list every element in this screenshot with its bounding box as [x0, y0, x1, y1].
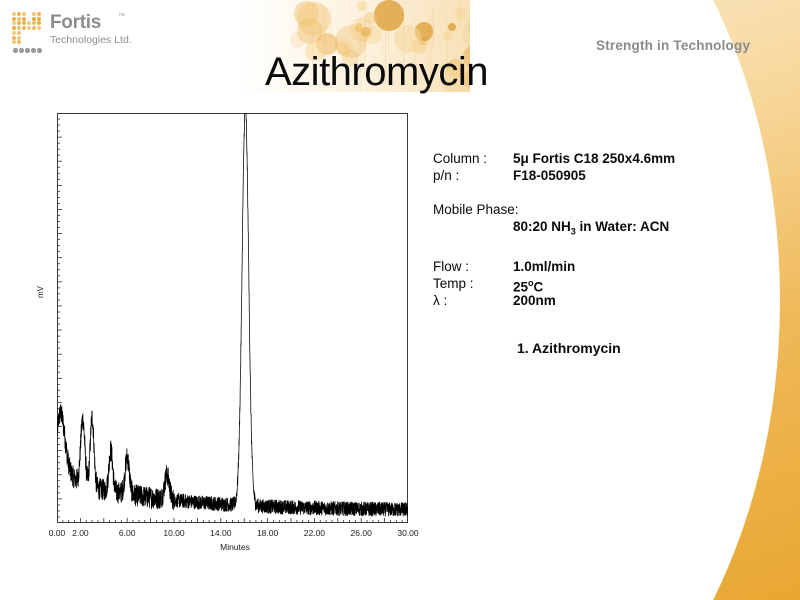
logo-dot: [22, 26, 26, 30]
banner-bubble: [355, 23, 363, 31]
logo-dot: [12, 26, 16, 30]
pn-label: p/n :: [433, 167, 459, 184]
logo-dot: [17, 40, 21, 44]
fortis-logo-dot-mark-icon: [12, 12, 46, 46]
flow-label: Flow :: [433, 258, 469, 275]
method-row-pn: p/n : F18-050905: [433, 167, 733, 184]
logo-dot: [12, 17, 16, 21]
spacer: [433, 184, 733, 201]
slide-title: Azithromycin: [265, 50, 488, 95]
x-axis-label: Minutes: [40, 542, 430, 552]
logo-dot: [22, 21, 26, 25]
temp-label: Temp :: [433, 275, 474, 292]
mobile-phase-post: in Water: ACN: [576, 219, 670, 234]
logo-dot: [37, 12, 41, 16]
mobile-phase-label: Mobile Phase:: [433, 201, 733, 218]
logo-dot: [12, 40, 16, 44]
logo-dot: [37, 21, 41, 25]
chromatogram-figure: mV 0.002.006.0010.0014.0018.0022.0026.00…: [40, 108, 430, 558]
mobile-phase-pre: 80:20 NH: [513, 219, 571, 234]
method-parameters-block: Column : 5μ Fortis C18 250x4.6mm p/n : F…: [433, 150, 733, 309]
lambda-label: λ :: [433, 292, 447, 309]
logo-dot: [17, 31, 21, 35]
logo-dot: [17, 36, 21, 40]
company-tagline: Strength in Technology: [596, 38, 750, 53]
logo-dot: [32, 12, 36, 16]
logo-dot: [12, 12, 16, 16]
logo-underline-dot: [19, 48, 24, 53]
logo-dot: [22, 12, 26, 16]
logo-dot: [37, 17, 41, 21]
method-row-column: Column : 5μ Fortis C18 250x4.6mm: [433, 150, 733, 167]
logo-wordmark: Fortis: [50, 12, 101, 34]
logo-dot: [12, 36, 16, 40]
x-tick-label: 22.00: [297, 528, 331, 538]
x-tick-label: 6.00: [110, 528, 144, 538]
x-tick-label: 2.00: [63, 528, 97, 538]
axis-tick-marks: [57, 113, 408, 523]
banner-bubble: [364, 26, 382, 44]
y-axis-label: mV: [36, 286, 45, 298]
logo-dot: [27, 21, 31, 25]
mobile-phase-value: 80:20 NH3 in Water: ACN: [433, 218, 733, 241]
x-tick-label: 14.00: [204, 528, 238, 538]
logo-trademark-symbol: ™: [118, 13, 125, 20]
logo-underline-dot: [37, 48, 42, 53]
method-row-temp: Temp : 25oC: [433, 275, 733, 292]
logo-underline-dot: [31, 48, 36, 53]
banner-bubble: [448, 23, 456, 31]
x-tick-label: 26.00: [344, 528, 378, 538]
lambda-value: 200nm: [513, 292, 556, 309]
logo-dot: [17, 17, 21, 21]
logo-dot: [12, 31, 16, 35]
logo-subtitle: Technologies Ltd.: [50, 34, 132, 46]
banner-bubble: [455, 8, 467, 20]
logo-dot: [12, 21, 16, 25]
logo-dot: [22, 17, 26, 21]
logo-dot: [32, 26, 36, 30]
column-value: 5μ Fortis C18 250x4.6mm: [513, 150, 675, 167]
banner-bubble: [290, 32, 305, 47]
logo-dot: [17, 12, 21, 16]
banner-bubble: [394, 25, 422, 53]
pn-value: F18-050905: [513, 167, 586, 184]
logo-dot: [32, 17, 36, 21]
spacer: [433, 241, 733, 258]
logo-underline-dot: [25, 48, 30, 53]
logo-dot: [17, 26, 21, 30]
column-label: Column :: [433, 150, 487, 167]
flow-value: 1.0ml/min: [513, 258, 575, 275]
banner-bubble: [364, 12, 376, 24]
logo-dot: [37, 26, 41, 30]
banner-bubble: [297, 2, 331, 36]
fortis-logo: Fortis ™ Technologies Ltd.: [8, 10, 158, 58]
logo-dot: [32, 21, 36, 25]
logo-underline-dot: [13, 48, 18, 53]
x-tick-label: 10.00: [157, 528, 191, 538]
method-row-flow: Flow : 1.0ml/min: [433, 258, 733, 275]
logo-dot: [17, 21, 21, 25]
peak-identification-label: 1. Azithromycin: [517, 340, 621, 356]
x-tick-label: 18.00: [251, 528, 285, 538]
x-tick-label: 30.00: [391, 528, 425, 538]
method-row-lambda: λ : 200nm: [433, 292, 733, 309]
x-axis-tick-labels: 0.002.006.0010.0014.0018.0022.0026.0030.…: [40, 528, 430, 542]
logo-dot: [27, 26, 31, 30]
